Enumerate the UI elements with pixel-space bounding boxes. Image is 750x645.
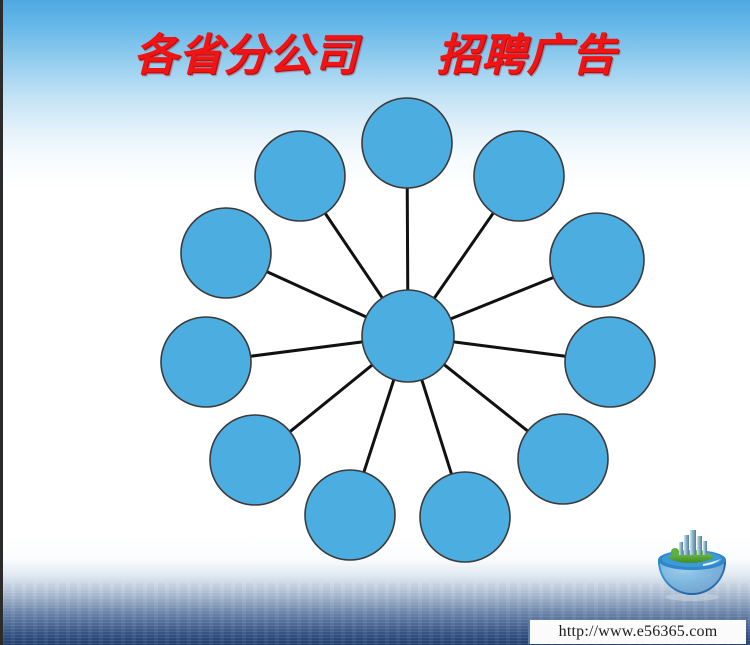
- node-circle-3[interactable]: [181, 208, 271, 298]
- slide-canvas: 各省分公司 招聘广告: [0, 0, 750, 645]
- node-circle-9[interactable]: [565, 317, 655, 407]
- node-circles-group: [161, 98, 655, 562]
- node-circle-1[interactable]: [362, 98, 452, 188]
- title-row: 各省分公司 招聘广告: [0, 34, 750, 78]
- hub-and-spoke-diagram: [0, 0, 750, 645]
- hub-circle[interactable]: [362, 290, 454, 382]
- spoke-line-11: [433, 211, 494, 300]
- spoke-line-4: [249, 342, 365, 357]
- node-circle-6[interactable]: [305, 470, 395, 560]
- spoke-line-8: [442, 363, 529, 432]
- title-left: 各省分公司: [134, 34, 359, 78]
- watermark-url-box: http://www.e56365.com: [528, 620, 746, 644]
- watermark-url-text: http://www.e56365.com: [559, 623, 718, 641]
- node-circle-5[interactable]: [210, 415, 300, 505]
- globe-city-logo-icon: [648, 525, 736, 603]
- node-circle-4[interactable]: [161, 317, 251, 407]
- spoke-line-6: [363, 378, 394, 474]
- node-circle-8[interactable]: [518, 414, 608, 504]
- spoke-line-3: [265, 271, 368, 318]
- node-circle-10[interactable]: [550, 213, 644, 307]
- title-right: 招聘广告: [437, 34, 617, 78]
- spoke-line-1: [407, 186, 408, 292]
- spoke-line-5: [288, 364, 373, 433]
- spoke-line-7: [421, 378, 452, 476]
- spoke-line-2: [324, 212, 383, 300]
- spoke-line-9: [452, 342, 568, 357]
- node-circle-11[interactable]: [474, 131, 564, 221]
- node-circle-7[interactable]: [420, 472, 510, 562]
- node-circle-2[interactable]: [255, 131, 345, 221]
- spoke-line-10: [449, 277, 555, 320]
